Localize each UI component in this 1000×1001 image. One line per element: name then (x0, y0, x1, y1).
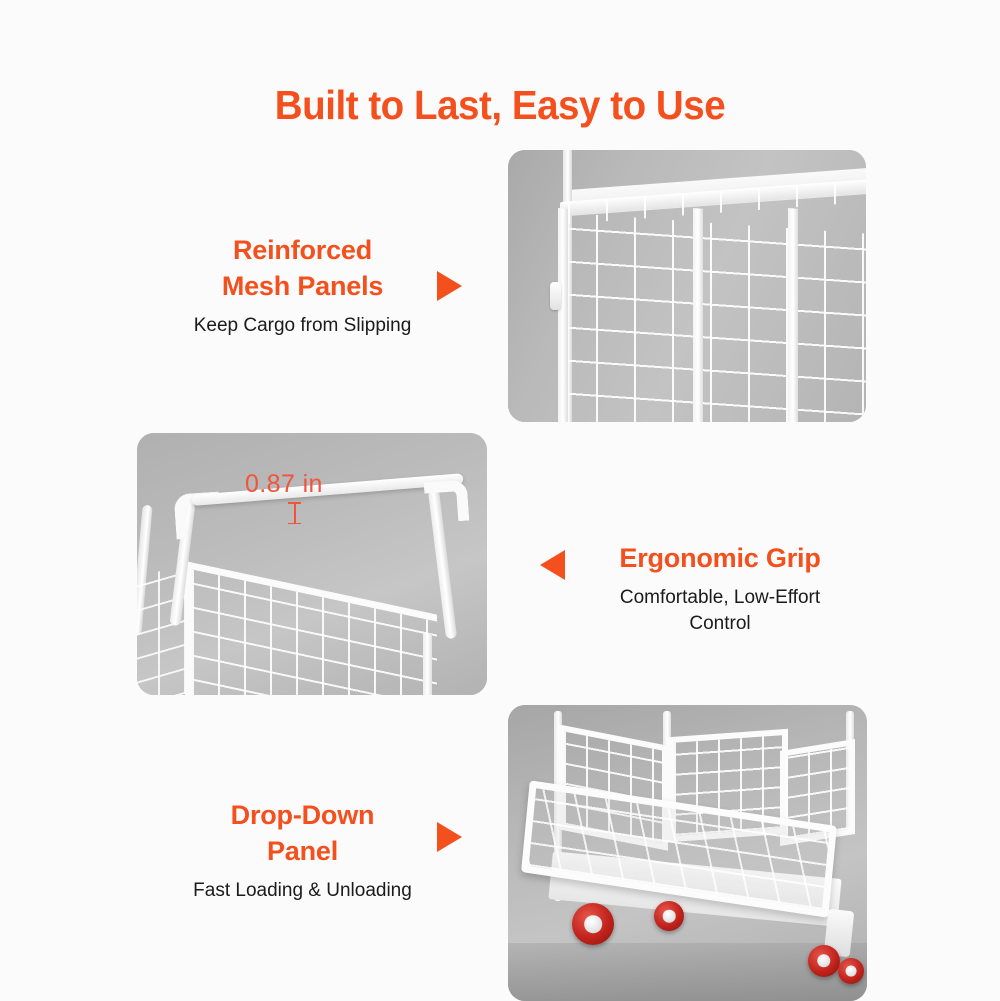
feature-subtitle: Fast Loading & Unloading (150, 878, 455, 904)
feature-heading-line-1: Ergonomic Grip (575, 540, 865, 576)
triangle-left-icon (540, 550, 565, 580)
cart-corner-post (423, 633, 432, 695)
caster-wheel (838, 958, 864, 984)
feature-text-ergonomic-grip: Ergonomic Grip Comfortable, Low-Effort C… (575, 540, 865, 637)
feature-heading-line-1: Drop-Down (150, 797, 455, 833)
feature-subtitle-line-1: Comfortable, Low-Effort (575, 585, 865, 611)
dimension-marker-icon (288, 502, 301, 524)
feature-subtitle: Comfortable, Low-Effort Control (575, 585, 865, 637)
dimension-marker-stem (294, 502, 296, 524)
mesh-cage-illustration (508, 150, 866, 422)
caster-wheel (808, 945, 840, 977)
handle-right-bend (424, 480, 470, 524)
feature-text-reinforced-mesh-panels: Reinforced Mesh Panels Keep Cargo from S… (150, 232, 455, 339)
page-title: Built to Last, Easy to Use (30, 82, 970, 129)
feature-image-reinforced-mesh-panels (508, 150, 866, 422)
feature-image-drop-down-panel (508, 705, 867, 1001)
infographic-page: Built to Last, Easy to Use (0, 0, 1000, 1000)
triangle-right-icon (437, 271, 462, 301)
dimension-callout-label: 0.87 in (245, 470, 323, 499)
wheel-hub (817, 954, 830, 967)
mesh-frame-vertical (558, 208, 568, 422)
wheel-hub (846, 966, 857, 977)
feature-heading: Reinforced Mesh Panels (150, 232, 455, 304)
feature-heading-line-1: Reinforced (150, 232, 455, 268)
feature-heading-line-2: Panel (150, 833, 455, 869)
caster-wheel (572, 903, 614, 945)
mesh-frame-vertical (788, 208, 798, 422)
panel-latch (550, 282, 561, 310)
feature-heading-line-2: Mesh Panels (150, 268, 455, 304)
triangle-right-icon (437, 822, 462, 852)
feature-text-drop-down-panel: Drop-Down Panel Fast Loading & Unloading (150, 797, 455, 904)
caster-wheel (654, 901, 684, 931)
feature-subtitle: Keep Cargo from Slipping (150, 313, 455, 339)
feature-heading: Ergonomic Grip (575, 540, 865, 576)
wheel-hub (584, 915, 602, 933)
feature-subtitle-line-2: Control (575, 611, 865, 637)
mesh-grid (558, 212, 866, 422)
mesh-grid-area (558, 212, 866, 422)
feature-heading: Drop-Down Panel (150, 797, 455, 869)
dimension-marker-bottom-cap (288, 523, 301, 525)
mesh-frame-vertical (693, 208, 703, 422)
wheel-hub (663, 910, 676, 923)
